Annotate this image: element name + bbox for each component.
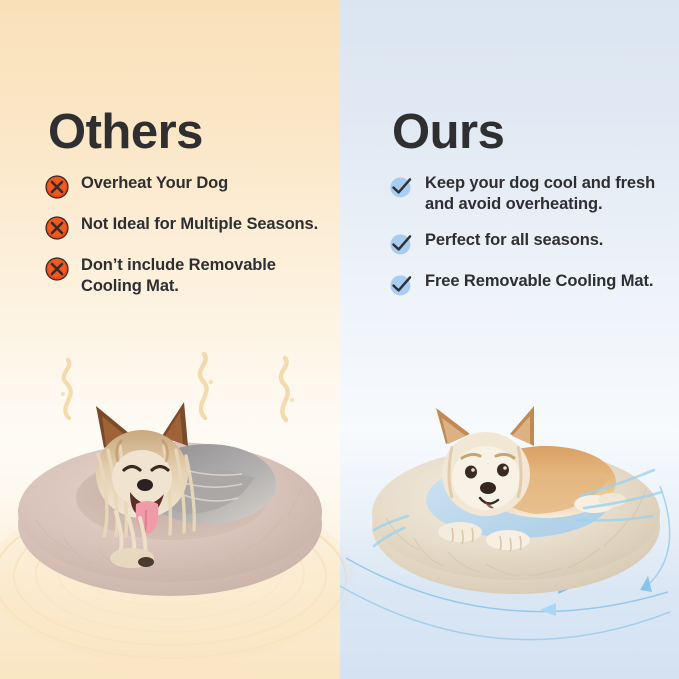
others-title: Others bbox=[48, 108, 203, 157]
others-feature-list: Overheat Your Dog Not Ideal for Multiple… bbox=[44, 173, 334, 297]
ours-title: Ours bbox=[392, 108, 504, 157]
list-item: Perfect for all seasons. bbox=[388, 230, 668, 257]
circle-x-icon bbox=[44, 215, 70, 241]
circle-check-icon bbox=[388, 174, 414, 200]
list-item: Free Removable Cooling Mat. bbox=[388, 271, 668, 298]
list-item-label: Free Removable Cooling Mat. bbox=[425, 271, 653, 292]
list-item-label: Overheat Your Dog bbox=[81, 173, 228, 194]
list-item-label: Not Ideal for Multiple Seasons. bbox=[81, 214, 318, 235]
list-item-label: Keep your dog cool and fresh and avoid o… bbox=[425, 173, 668, 216]
list-item-label: Perfect for all seasons. bbox=[425, 230, 603, 251]
ours-feature-list: Keep your dog cool and fresh and avoid o… bbox=[388, 173, 668, 298]
list-item: Not Ideal for Multiple Seasons. bbox=[44, 214, 334, 241]
comparison-infographic: Others Ours Overheat Your Dog bbox=[0, 0, 679, 679]
list-item: Don’t include Removable Cooling Mat. bbox=[44, 255, 334, 297]
circle-x-icon bbox=[44, 174, 70, 200]
right-dog-bed-illustration bbox=[368, 400, 668, 600]
list-item: Keep your dog cool and fresh and avoid o… bbox=[388, 173, 668, 216]
left-dog-bed-illustration bbox=[12, 392, 328, 602]
list-item: Overheat Your Dog bbox=[44, 173, 334, 200]
circle-check-icon bbox=[388, 231, 414, 257]
circle-check-icon bbox=[388, 272, 414, 298]
circle-x-icon bbox=[44, 256, 70, 282]
list-item-label: Don’t include Removable Cooling Mat. bbox=[81, 255, 334, 297]
